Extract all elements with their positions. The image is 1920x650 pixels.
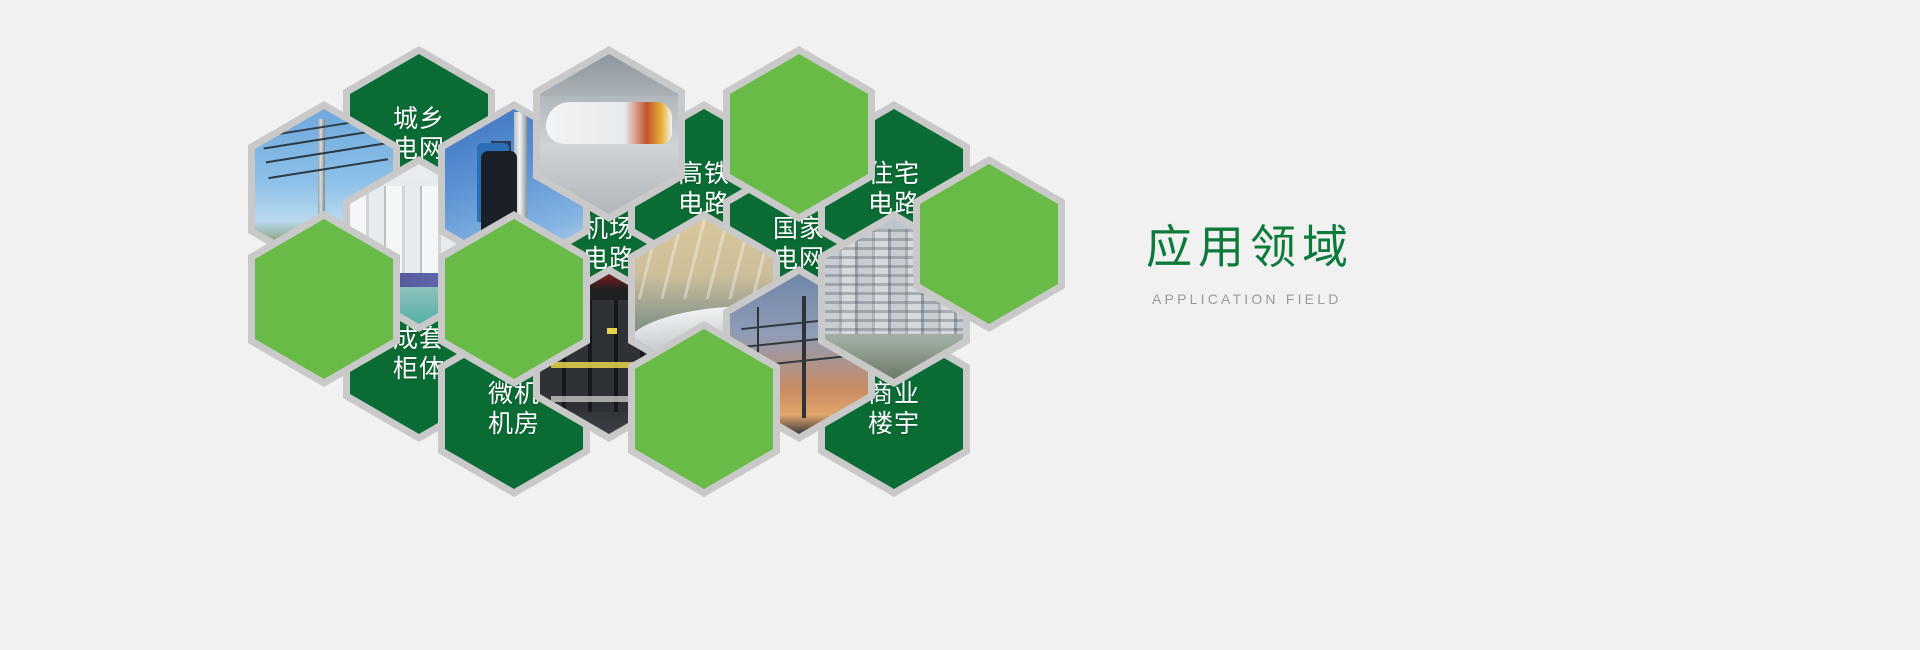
hex-label-commercial-building: 商业 楼宇 [868, 379, 920, 440]
title-block: 应用领域 APPLICATION FIELD [1146, 222, 1566, 307]
hex-inner-accent-a [255, 219, 393, 379]
honeycomb-grid: 城乡 电网机场 电路高铁 电路国家 电网住宅 电路成套 柜体微机 机房商业 楼宇 [248, 46, 1078, 506]
hex-label-urban-rural-grid: 城乡 电网 [393, 104, 445, 165]
hex-label-residential-circuit: 住宅 电路 [868, 159, 920, 220]
hex-inner-accent-e [920, 164, 1058, 324]
photo-airport [540, 54, 678, 214]
page-title: 应用领域 [1146, 222, 1566, 273]
application-field-banner: 城乡 电网机场 电路高铁 电路国家 电网住宅 电路成套 柜体微机 机房商业 楼宇… [0, 0, 1920, 650]
hex-label-switchgear-cabinet: 成套 柜体 [393, 324, 445, 385]
hex-label-high-speed-rail: 高铁 电路 [678, 159, 730, 220]
hex-inner-accent-c [635, 329, 773, 489]
hex-label-state-grid: 国家 电网 [773, 214, 825, 275]
page-subtitle: APPLICATION FIELD [1152, 291, 1566, 307]
hex-inner-photo-airport [540, 54, 678, 214]
hex-inner-accent-d [730, 54, 868, 214]
hex-inner-accent-b [445, 219, 583, 379]
hex-label-computer-room: 微机 机房 [488, 379, 540, 440]
hex-label-airport-circuit: 机场 电路 [583, 214, 635, 275]
